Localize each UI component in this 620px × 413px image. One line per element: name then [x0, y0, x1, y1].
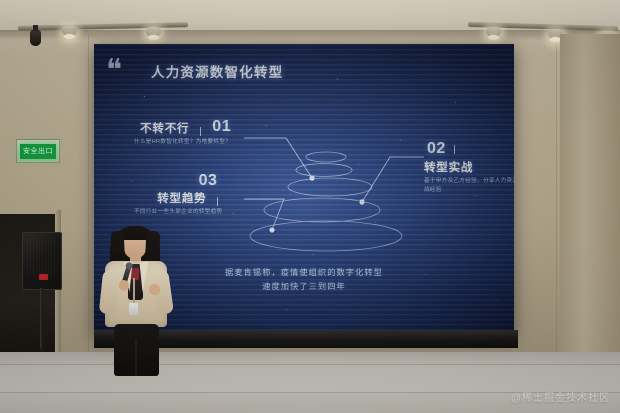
agenda-item-01-number: 01	[212, 118, 231, 136]
agenda-item-02-subtitle: 基于甲方及乙方经验，分享人力资源转型实战经验	[424, 177, 514, 194]
divider-tick	[200, 127, 201, 136]
agenda-item-01: 不转不行 01 什么是HR数智化转型？为啥要转型？	[134, 118, 231, 147]
right-wall-column	[560, 34, 620, 364]
presenter-hand-right	[149, 284, 160, 295]
spotlight-icon	[62, 26, 77, 36]
agenda-item-03-heading: 转型趋势	[157, 190, 206, 206]
divider-tick	[454, 145, 455, 154]
agenda-item-02-number: 02	[427, 140, 446, 157]
spotlight-icon	[486, 27, 501, 37]
presenter-trousers	[114, 324, 159, 376]
agenda-item-01-heading: 不转不行	[140, 120, 189, 136]
presenter-lanyard	[133, 278, 135, 304]
agenda-item-03: 03 转型趋势 不同行业一些头部企业的转型趋势	[134, 172, 222, 217]
presenter-badge	[129, 303, 138, 315]
spotlight-icon	[146, 27, 161, 37]
presenter-hand-left	[119, 280, 129, 291]
agenda-item-03-number: 03	[199, 172, 218, 189]
agenda-item-01-subtitle: 什么是HR数智化转型？为啥要转型？	[134, 138, 231, 147]
presenter-hair-fringe	[121, 226, 149, 240]
divider-tick	[217, 197, 218, 206]
speaker-stand-pole	[40, 288, 43, 356]
watermark: @稀土掘金技术社区	[511, 389, 610, 404]
agenda-item-02: 02 转型实战 基于甲方及乙方经验，分享人力资源转型实战经验	[424, 140, 514, 194]
conference-room-photo: 安全出口 ❝ 人力资源数智化转型	[0, 0, 620, 413]
agenda-item-02-heading: 转型实战	[424, 159, 514, 175]
emergency-exit-sign: 安全出口	[16, 139, 60, 163]
pa-speaker	[22, 232, 62, 290]
exit-sign-label: 安全出口	[20, 144, 56, 159]
speaker-brand-logo	[39, 274, 48, 280]
ceiling-camera-icon	[30, 30, 41, 46]
presenter	[88, 224, 184, 374]
ceiling-shadow	[0, 30, 620, 40]
agenda-item-03-subtitle: 不同行业一些头部企业的转型趋势	[134, 208, 222, 217]
